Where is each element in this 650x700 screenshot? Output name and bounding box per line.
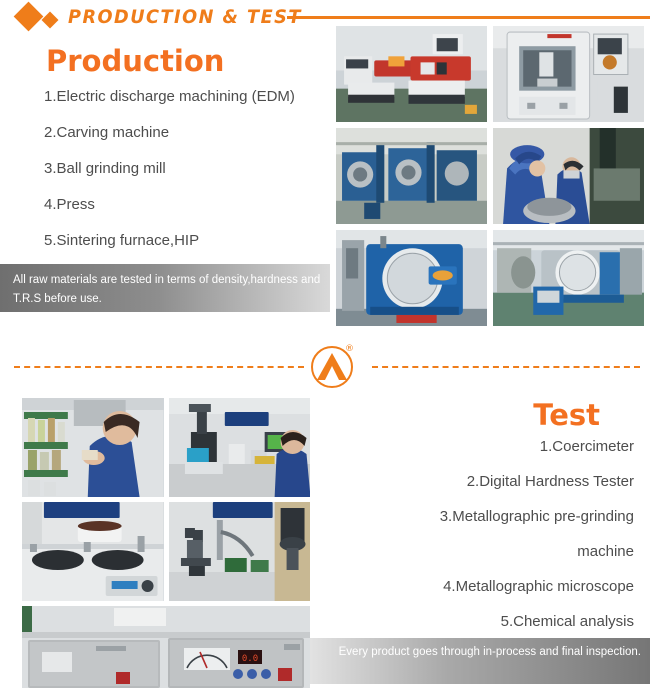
divider-line-left [14, 366, 304, 368]
test-section: Test 1.Coercimeter 2.Digital Hardness Te… [312, 398, 642, 648]
list-item: 4.Metallographic microscope [312, 578, 634, 596]
list-item-continuation: machine [312, 543, 634, 561]
production-photo-grid [336, 26, 644, 326]
list-item: 4.Press [44, 196, 330, 213]
registered-mark: ® [345, 344, 354, 354]
header-rule [287, 16, 650, 19]
test-photo-hardness-tester [169, 398, 311, 497]
svg-text:0.0: 0.0 [242, 654, 258, 664]
production-photo-sintering-furnace [336, 230, 487, 326]
diamond-small-icon [42, 12, 59, 29]
list-item: 2.Carving machine [44, 124, 330, 141]
test-photo-chemical-lab [22, 398, 164, 497]
production-list: 1.Electric discharge machining (EDM) 2.C… [0, 88, 330, 249]
production-photo-ball-mill [336, 128, 487, 224]
brand-logo: ® [307, 344, 365, 392]
production-caption-bar: All raw materials are tested in terms of… [0, 264, 330, 312]
test-list: 1.Coercimeter 2.Digital Hardness Tester … [312, 438, 642, 631]
production-section: Production 1.Electric discharge machinin… [0, 44, 330, 268]
page-title: PRODUCTION & TEST [68, 6, 302, 28]
production-caption-text: All raw materials are tested in terms of… [13, 271, 325, 309]
production-photo-carving [493, 26, 644, 122]
test-photo-metallographic-microscope [169, 502, 311, 601]
test-photo-coercimeter: 0.0 [22, 606, 310, 688]
production-photo-press [493, 128, 644, 224]
test-heading: Test [312, 398, 642, 432]
production-heading: Production [0, 44, 330, 78]
list-item: 1.Electric discharge machining (EDM) [44, 88, 330, 105]
divider-line-right [372, 366, 640, 368]
list-item: 3.Metallographic pre-grinding [312, 508, 634, 526]
test-caption-bar: Every product goes through in-process an… [310, 638, 650, 684]
production-photo-edm [336, 26, 487, 122]
production-test-page: PRODUCTION & TEST Production 1.Electric … [0, 0, 650, 700]
list-item: 5.Chemical analysis [312, 613, 634, 631]
list-item: 5.Sintering furnace,HIP [44, 232, 330, 249]
production-photo-hip [493, 230, 644, 326]
list-item: 2.Digital Hardness Tester [312, 473, 634, 491]
diamond-large-icon [14, 2, 44, 32]
sierpinski-triangle-icon [316, 352, 348, 382]
test-photo-pre-grinding-machine [22, 502, 164, 601]
list-item: 3.Ball grinding mill [44, 160, 330, 177]
test-caption-text: Every product goes through in-process an… [315, 643, 641, 662]
test-photo-grid: 0.0 [22, 398, 310, 686]
list-item: 1.Coercimeter [312, 438, 634, 456]
